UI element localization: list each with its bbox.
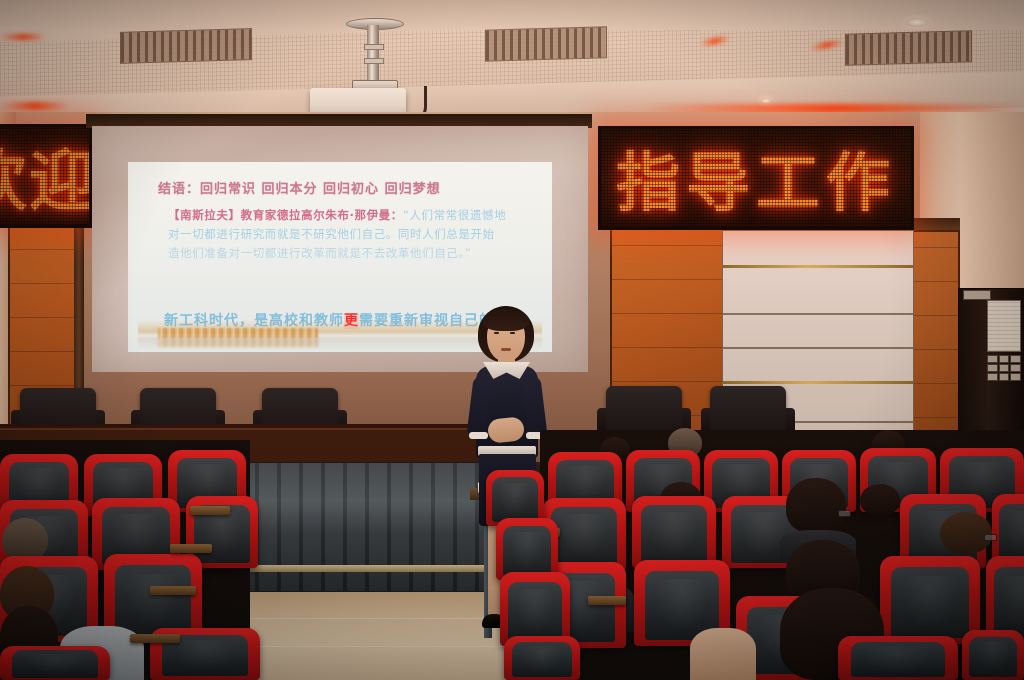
rack-label-sheet	[987, 300, 1021, 352]
air-vent-icon	[845, 30, 972, 66]
audience-seat[interactable]	[500, 572, 570, 646]
ceiling	[0, 0, 1024, 118]
fold-out-desk[interactable]	[130, 634, 180, 643]
rack-button[interactable]	[1010, 373, 1021, 381]
presenter-cuff-left	[469, 432, 488, 439]
audience-shoulders	[690, 628, 756, 680]
audience-seat[interactable]	[0, 646, 110, 680]
led-banner-right-text: 指导工作	[601, 129, 911, 227]
presenter-mouth	[501, 348, 511, 351]
eyeglasses-icon	[984, 534, 997, 541]
led-banner-right: 指导工作	[598, 126, 914, 230]
panel-line	[723, 313, 913, 315]
projector-pole-ring	[364, 58, 384, 64]
rack-button[interactable]	[987, 373, 998, 381]
audience-seat[interactable]	[838, 636, 958, 680]
presenter-hair-front	[483, 309, 529, 331]
rack-button[interactable]	[999, 373, 1010, 381]
fold-out-desk[interactable]	[190, 506, 230, 515]
red-light-glow	[0, 34, 46, 40]
projector-pole	[367, 25, 379, 83]
projector-pole-ring	[364, 44, 384, 50]
rack-button[interactable]	[999, 364, 1010, 372]
ceiling-soffit	[0, 0, 1024, 30]
slide-quote-block: 【南斯拉夫】教育家德拉高尔朱布·那伊曼：“人们常常很遗憾地对一切都进行研究而就是…	[168, 206, 518, 263]
rack-button[interactable]	[999, 355, 1010, 363]
led-banner-left: 欢迎	[0, 124, 92, 228]
fold-out-desk[interactable]	[170, 544, 212, 553]
presenter-eye	[494, 332, 499, 334]
led-banner-left-text: 欢迎	[0, 127, 81, 225]
air-vent-icon	[120, 28, 252, 64]
audience-seat[interactable]	[496, 518, 558, 580]
presenter-eye	[510, 332, 515, 334]
wood-wall-panel	[912, 230, 960, 454]
audience-seat[interactable]	[632, 496, 716, 568]
air-vent-icon	[485, 26, 607, 61]
slide-quote-source: 【南斯拉夫】教育家德拉高尔朱布·那伊曼：	[168, 208, 403, 222]
eyeglasses-icon	[838, 510, 851, 517]
rack-button[interactable]	[1010, 364, 1021, 372]
audience-head	[786, 478, 846, 534]
downlight-icon	[905, 18, 929, 27]
red-light-glow	[0, 102, 70, 110]
lecture-hall-photo: 欢迎 指导工作 结语：回归常识 回归本分 回归初心 回归梦想 【南斯拉夫】教育家…	[0, 0, 1024, 680]
panel-line	[723, 347, 913, 349]
audience-seat[interactable]	[880, 556, 980, 644]
audience-seat[interactable]	[962, 630, 1024, 680]
panel-gold-line	[723, 265, 913, 268]
fold-out-desk[interactable]	[588, 596, 626, 605]
slide-heading: 结语：回归常识 回归本分 回归初心 回归梦想	[158, 178, 441, 197]
rack-chip	[963, 290, 991, 300]
fold-out-desk[interactable]	[150, 586, 196, 595]
rack-button[interactable]	[987, 355, 998, 363]
rack-button[interactable]	[987, 364, 998, 372]
audience-seat[interactable]	[504, 636, 580, 680]
slide-quote-line2: 造他们准备对一切都进行改革而就是不去改革他们自己。”	[168, 244, 518, 263]
audience-head	[860, 484, 900, 516]
panel-gold-line	[723, 381, 913, 384]
rack-button-grid[interactable]	[987, 355, 1021, 381]
rack-button[interactable]	[1010, 355, 1021, 363]
audience-head	[940, 512, 992, 554]
